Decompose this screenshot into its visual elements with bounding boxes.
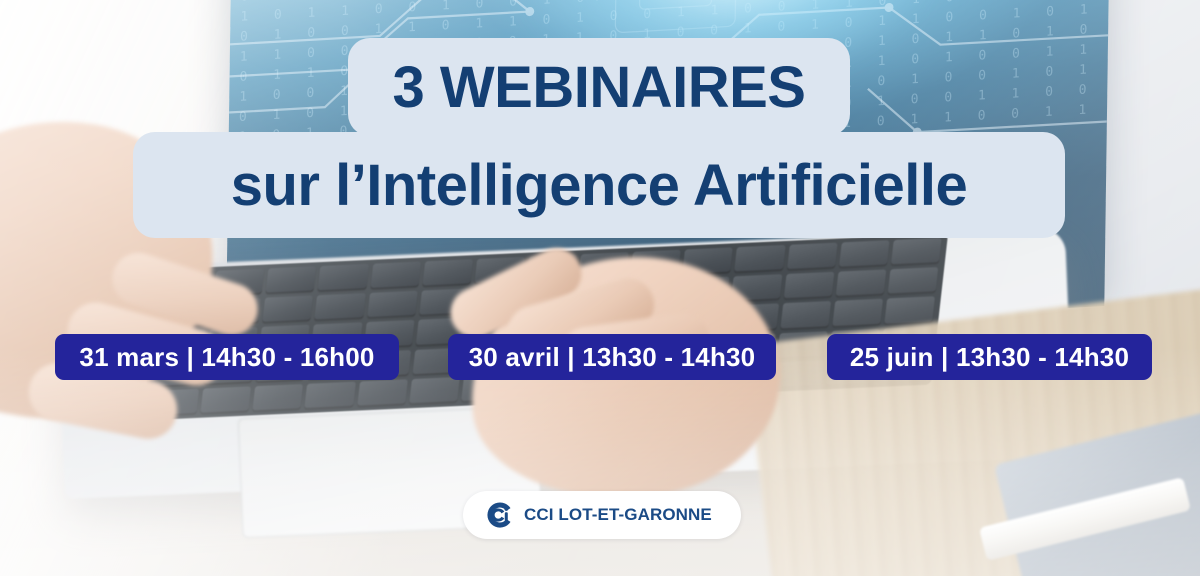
cci-logo-pill[interactable]: CCI LOT-ET-GARONNE — [463, 491, 741, 539]
title-line-1: 3 WEBINAIRES — [393, 54, 806, 121]
cci-circle-logo-icon — [485, 500, 515, 530]
session-badge-3-label: 25 juin | 13h30 - 14h30 — [850, 342, 1129, 373]
session-badge-2-label: 30 avril | 13h30 - 14h30 — [469, 342, 756, 373]
session-badge-2[interactable]: 30 avril | 13h30 - 14h30 — [448, 334, 776, 380]
title-line-2: sur l’Intelligence Artificielle — [231, 152, 968, 219]
cci-logo-name: CCI LOT-ET-GARONNE — [524, 505, 712, 525]
title-line-2-panel: sur l’Intelligence Artificielle — [133, 132, 1065, 238]
session-badge-1[interactable]: 31 mars | 14h30 - 16h00 — [55, 334, 399, 380]
webinar-promo-banner: 1 0 0 1 0 1 1 0 0 1 0 1 0 0 1 1 0 1 0 0 … — [0, 0, 1200, 576]
session-badge-1-label: 31 mars | 14h30 - 16h00 — [79, 342, 374, 373]
title-line-1-panel: 3 WEBINAIRES — [348, 38, 850, 136]
session-badges: 31 mars | 14h30 - 16h00 30 avril | 13h30… — [0, 334, 1200, 380]
session-badge-3[interactable]: 25 juin | 13h30 - 14h30 — [827, 334, 1152, 380]
banner-content: 3 WEBINAIRES sur l’Intelligence Artifici… — [0, 0, 1200, 576]
